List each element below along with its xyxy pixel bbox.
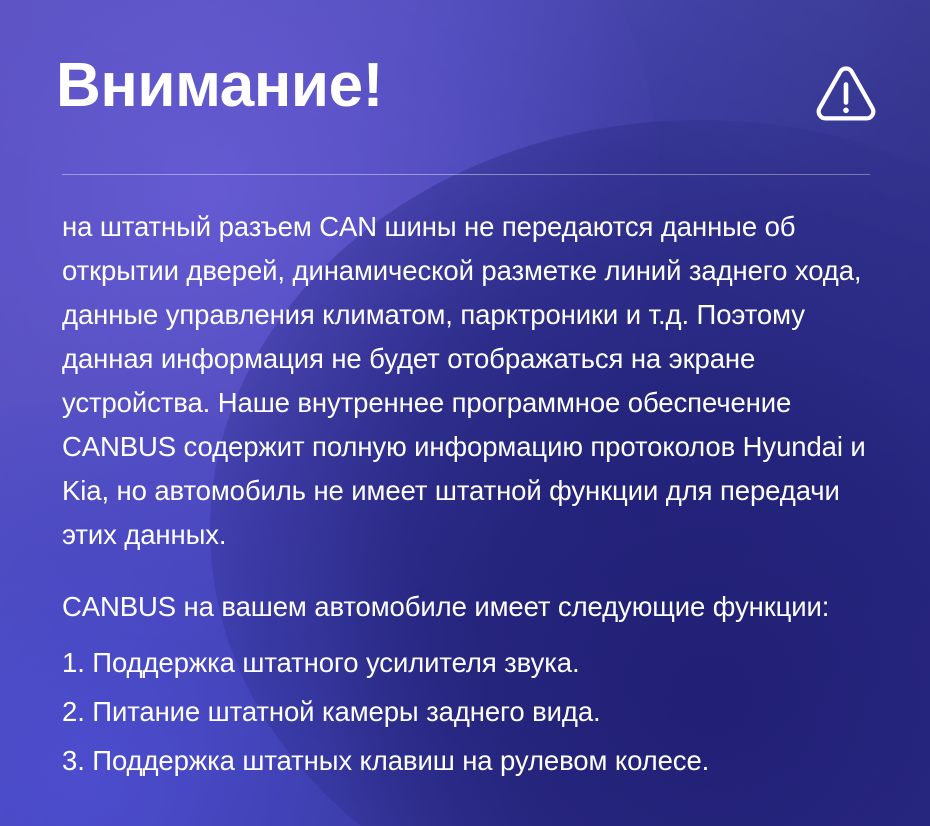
features-intro: CANBUS на вашем автомобиле имеет следующ… xyxy=(62,588,880,626)
warning-triangle-icon xyxy=(814,61,878,125)
features-block: CANBUS на вашем автомобиле имеет следующ… xyxy=(62,588,880,785)
banner-content: Внимание! на штатный разъем CAN шины не … xyxy=(0,0,930,826)
warning-banner: Внимание! на штатный разъем CAN шины не … xyxy=(0,0,930,826)
page-title: Внимание! xyxy=(56,50,383,122)
list-item: 2. Питание штатной камеры заднего вида. xyxy=(62,687,880,736)
list-item: 3. Поддержка штатных клавиш на рулевом к… xyxy=(62,736,880,785)
header-divider xyxy=(62,174,870,175)
list-item: 1. Поддержка штатного усилителя звука. xyxy=(62,638,880,687)
body-text-block: на штатный разъем CAN шины не передаются… xyxy=(62,205,880,557)
features-list: 1. Поддержка штатного усилителя звука. 2… xyxy=(62,638,880,785)
warning-paragraph: на штатный разъем CAN шины не передаются… xyxy=(62,205,880,557)
banner-header: Внимание! xyxy=(0,0,930,175)
